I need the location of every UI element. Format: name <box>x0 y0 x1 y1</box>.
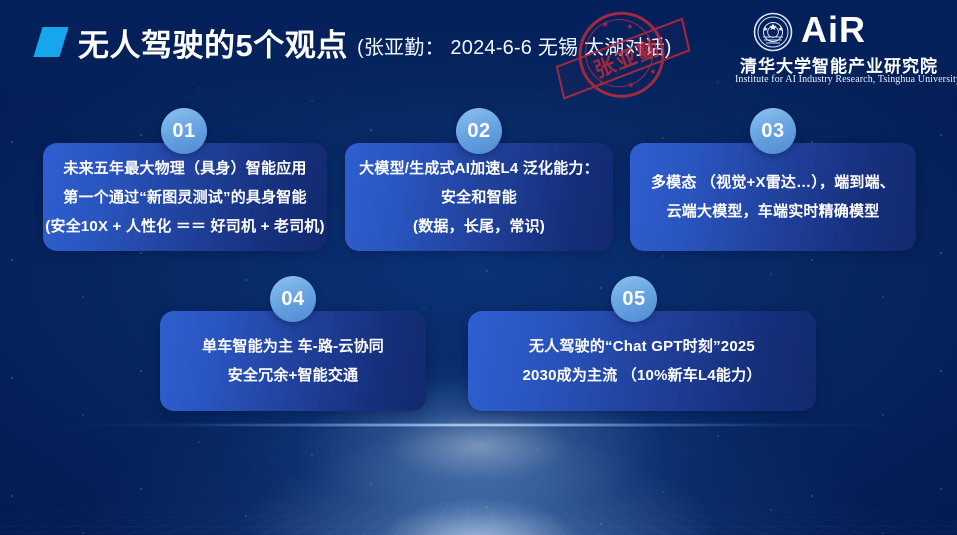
logo-org-name-en: Institute for AI Industry Research, Tsin… <box>735 74 943 85</box>
page-title: 无人驾驶的5个观点 <box>78 20 348 65</box>
card-line: 2030成为主流 （10%新车L4能力） <box>522 368 761 383</box>
stamp-star-icon: ★ <box>627 80 635 90</box>
red-seal-stamp: 张亚勤 ★ ★ ★ ★ ★ <box>554 0 686 105</box>
card-line: 云端大模型，车端实时精确模型 <box>667 204 880 219</box>
logo-wordmark-row: AiR <box>735 10 943 54</box>
card-number-badge-01: 01 <box>161 108 207 154</box>
viewpoint-card-05[interactable]: 无人驾驶的“Chat GPT时刻”2025 2030成为主流 （10%新车L4能… <box>468 311 816 411</box>
stamp-star-icon: ★ <box>598 79 606 89</box>
viewpoint-card-04[interactable]: 单车智能为主 车-路-云协同 安全冗余+智能交通 <box>160 311 426 411</box>
air-wordmark: AiR <box>801 8 866 52</box>
viewpoint-card-02[interactable]: 大模型/生成式AI加速L4 泛化能力： 安全和智能 (数据，长尾，常识) <box>345 143 613 251</box>
card-line: (安全10X + 人性化 ＝＝ 好司机 + 老司机) <box>45 219 324 234</box>
stamp-star-icon: ★ <box>601 19 609 29</box>
tsinghua-emblem-icon <box>753 12 793 52</box>
card-line: 安全冗余+智能交通 <box>228 368 359 383</box>
viewpoint-card-01[interactable]: 未来五年最大物理（具身）智能应用 第一个通过“新图灵测试”的具身智能 (安全10… <box>43 143 327 251</box>
card-line: 未来五年最大物理（具身）智能应用 <box>63 161 306 176</box>
card-line: 第一个通过“新图灵测试”的具身智能 <box>63 190 306 205</box>
card-number-badge-05: 05 <box>611 276 657 322</box>
slide-header: 无人驾驶的5个观点 (张亚勤： 2024-6-6 无锡 太湖对话) 张亚勤 ★ … <box>0 0 957 100</box>
card-number-badge-02: 02 <box>456 108 502 154</box>
stamp-star-icon: ★ <box>649 67 657 77</box>
title-accent-mark <box>33 27 68 57</box>
card-line: 多模态 （视觉+X雷达…），端到端、 <box>651 175 895 190</box>
card-line: 安全和智能 <box>441 190 517 205</box>
card-line: 无人驾驶的“Chat GPT时刻”2025 <box>529 339 755 354</box>
card-line: 单车智能为主 车-路-云协同 <box>202 339 384 354</box>
card-line: 大模型/生成式AI加速L4 泛化能力： <box>359 161 599 176</box>
stamp-star-icon: ★ <box>625 22 633 32</box>
slide-canvas: 无人驾驶的5个观点 (张亚勤： 2024-6-6 无锡 太湖对话) 张亚勤 ★ … <box>0 0 957 535</box>
card-number-badge-04: 04 <box>270 276 316 322</box>
air-tsinghua-logo: AiR 清华大学智能产业研究院 Institute for AI Industr… <box>735 10 943 90</box>
card-number-badge-03: 03 <box>750 108 796 154</box>
viewpoint-card-03[interactable]: 多模态 （视觉+X雷达…），端到端、 云端大模型，车端实时精确模型 <box>630 143 916 251</box>
card-line: (数据，长尾，常识) <box>413 219 545 234</box>
